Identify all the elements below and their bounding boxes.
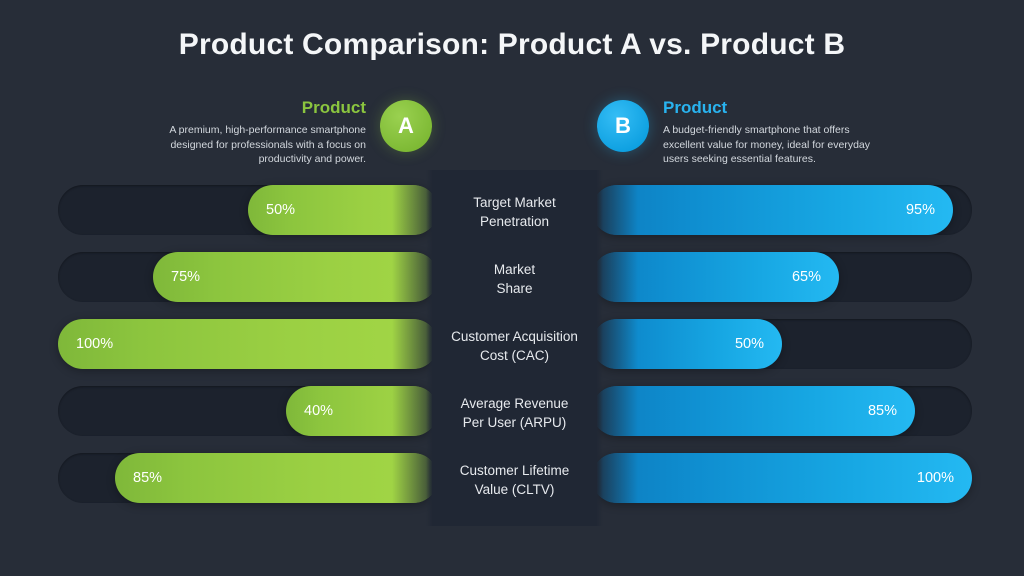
product-a-badge: A	[380, 100, 432, 152]
product-b-bar-row: 65%	[592, 252, 972, 302]
metric-label-panel: Target MarketPenetrationMarketShareCusto…	[432, 170, 597, 526]
metric-label-line-1: Market	[432, 260, 597, 279]
product-b-badge: B	[597, 100, 649, 152]
product-a-bar-value: 40%	[304, 403, 333, 419]
product-b-bar-fill: 50%	[592, 319, 782, 369]
metric-label: Average RevenuePer User (ARPU)	[432, 394, 597, 432]
metric-label: MarketShare	[432, 260, 597, 298]
metric-label: Customer LifetimeValue (CLTV)	[432, 461, 597, 499]
product-b-label: Product	[663, 98, 873, 118]
metric-label-line-2: Per User (ARPU)	[432, 413, 597, 432]
product-a-description: A premium, high-performance smartphone d…	[156, 123, 366, 167]
product-a-bar-row: 100%	[58, 319, 438, 369]
product-a-bar-row: 85%	[58, 453, 438, 503]
metric-label-line-1: Customer Acquisition	[432, 327, 597, 346]
product-b-description: A budget-friendly smartphone that offers…	[663, 123, 873, 167]
product-b-bar-value: 65%	[792, 269, 821, 285]
product-b-bar-value: 95%	[906, 202, 935, 218]
metric-label-line-2: Cost (CAC)	[432, 346, 597, 365]
product-b-bar-row: 100%	[592, 453, 972, 503]
product-b-text-block: Product A budget-friendly smartphone tha…	[663, 96, 873, 167]
product-a-text-block: Product A premium, high-performance smar…	[156, 96, 366, 167]
metric-label-line-2: Penetration	[432, 212, 597, 231]
metric-label-line-2: Value (CLTV)	[432, 480, 597, 499]
product-a-bar-fill: 40%	[286, 386, 438, 436]
product-b-bar-fill: 65%	[592, 252, 839, 302]
metric-label-line-1: Customer Lifetime	[432, 461, 597, 480]
product-b-bar-value: 100%	[917, 470, 954, 486]
product-a-bar-row: 50%	[58, 185, 438, 235]
metric-label: Target MarketPenetration	[432, 193, 597, 231]
metric-label-line-1: Target Market	[432, 193, 597, 212]
product-a-bar-value: 75%	[171, 269, 200, 285]
product-b-bar-row: 50%	[592, 319, 972, 369]
product-a-bar-value: 50%	[266, 202, 295, 218]
product-a-bar-fill: 85%	[115, 453, 438, 503]
product-b-bar-value: 85%	[868, 403, 897, 419]
product-a-label: Product	[156, 98, 366, 118]
product-a-bar-value: 85%	[133, 470, 162, 486]
product-a-bar-fill: 75%	[153, 252, 438, 302]
product-b-bar-row: 95%	[592, 185, 972, 235]
slide-canvas: Product Comparison: Product A vs. Produc…	[0, 0, 1024, 576]
product-b-bar-row: 85%	[592, 386, 972, 436]
product-a-bar-fill: 50%	[248, 185, 438, 235]
product-a-bar-row: 40%	[58, 386, 438, 436]
product-b-bar-fill: 95%	[592, 185, 953, 235]
page-title: Product Comparison: Product A vs. Produc…	[0, 28, 1024, 62]
metric-label-line-1: Average Revenue	[432, 394, 597, 413]
product-a-bar-row: 75%	[58, 252, 438, 302]
product-b-badge-letter: B	[615, 113, 631, 139]
product-b-bar-fill: 85%	[592, 386, 915, 436]
product-a-bar-value: 100%	[76, 336, 113, 352]
product-a-badge-letter: A	[398, 113, 414, 139]
product-b-bar-value: 50%	[735, 336, 764, 352]
product-a-bar-fill: 100%	[58, 319, 438, 369]
metric-label-line-2: Share	[432, 279, 597, 298]
product-a-header: Product A premium, high-performance smar…	[96, 96, 432, 167]
product-b-bar-fill: 100%	[592, 453, 972, 503]
metric-label: Customer AcquisitionCost (CAC)	[432, 327, 597, 365]
product-b-header: B Product A budget-friendly smartphone t…	[597, 96, 933, 167]
